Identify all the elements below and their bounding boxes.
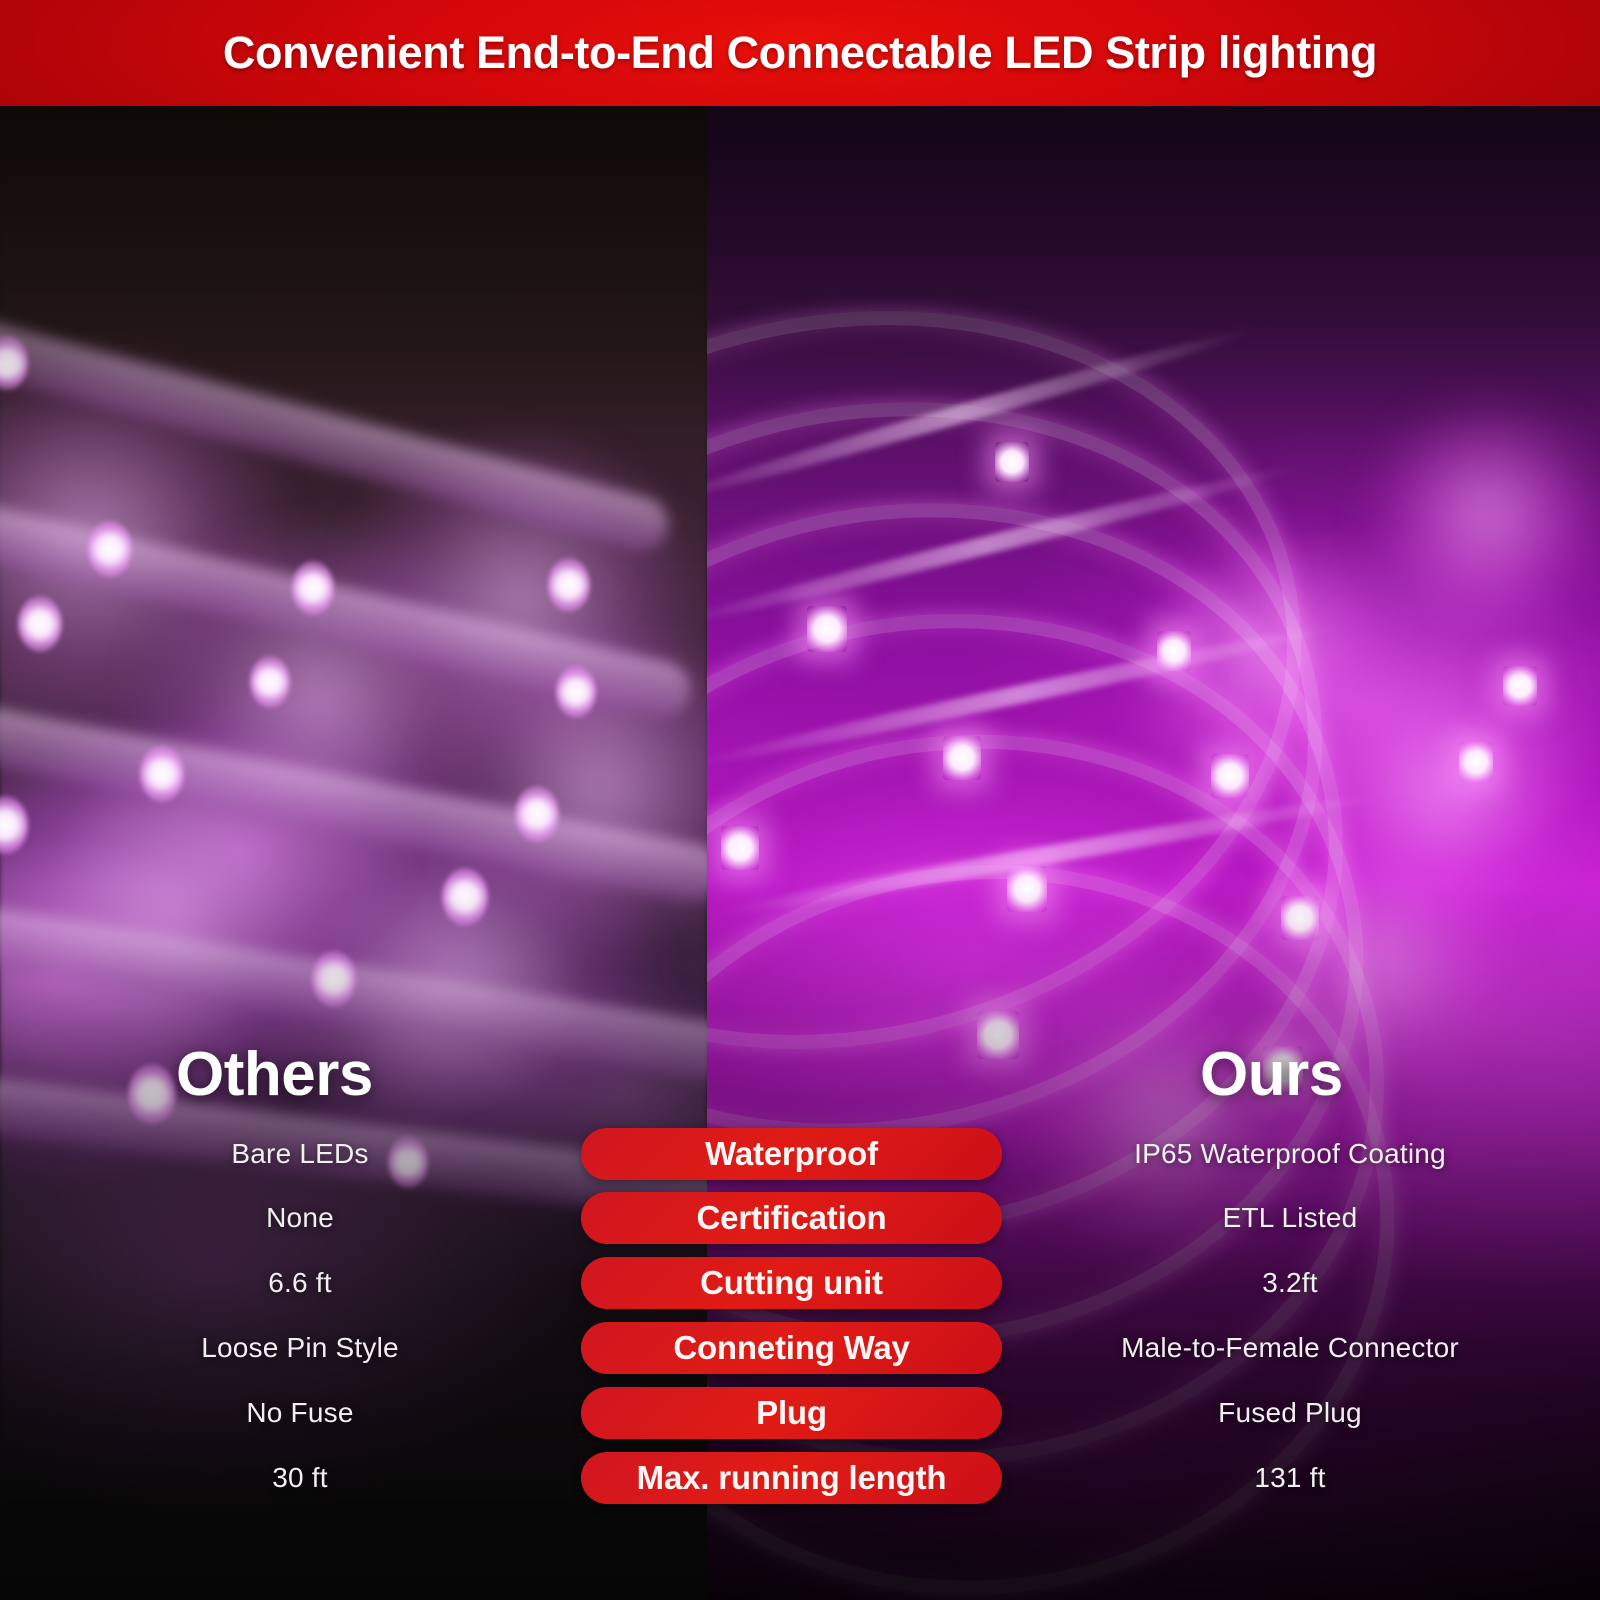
feature-pill-connecting-way[interactable]: Conneting Way xyxy=(581,1322,1002,1374)
feature-pill-max-running-length[interactable]: Max. running length xyxy=(581,1452,1002,1504)
ours-value: IP65 Waterproof Coating xyxy=(1040,1128,1540,1180)
banner-title: Convenient End-to-End Connectable LED St… xyxy=(223,27,1377,79)
table-row: Loose Pin Style Conneting Way Male-to-Fe… xyxy=(0,1322,1600,1379)
header-banner: Convenient End-to-End Connectable LED St… xyxy=(0,0,1600,106)
others-value: None xyxy=(60,1192,540,1244)
feature-pill-waterproof[interactable]: Waterproof xyxy=(581,1128,1002,1180)
column-heading-others: Others xyxy=(176,1039,373,1110)
product-comparison-infographic: Convenient End-to-End Connectable LED St… xyxy=(0,0,1600,1600)
table-row: 6.6 ft Cutting unit 3.2ft xyxy=(0,1257,1600,1314)
table-row: No Fuse Plug Fused Plug xyxy=(0,1387,1600,1444)
feature-label: Conneting Way xyxy=(673,1329,909,1367)
feature-label: Waterproof xyxy=(705,1135,878,1173)
column-heading-ours: Ours xyxy=(1200,1039,1343,1110)
table-row: None Certification ETL Listed xyxy=(0,1192,1600,1249)
ours-value: ETL Listed xyxy=(1040,1192,1540,1244)
ours-value: 131 ft xyxy=(1040,1452,1540,1504)
others-value: No Fuse xyxy=(60,1387,540,1439)
feature-label: Plug xyxy=(756,1394,827,1432)
others-value: Bare LEDs xyxy=(60,1128,540,1180)
comparison-table: Others Ours Bare LEDs Waterproof IP65 Wa… xyxy=(0,0,1600,1600)
feature-label: Cutting unit xyxy=(700,1264,883,1302)
table-row: 30 ft Max. running length 131 ft xyxy=(0,1452,1600,1509)
feature-label: Max. running length xyxy=(637,1459,947,1497)
others-value: 30 ft xyxy=(60,1452,540,1504)
feature-pill-cutting-unit[interactable]: Cutting unit xyxy=(581,1257,1002,1309)
others-value: 6.6 ft xyxy=(60,1257,540,1309)
feature-pill-certification[interactable]: Certification xyxy=(581,1192,1002,1244)
ours-value: Male-to-Female Connector xyxy=(1040,1322,1540,1374)
feature-pill-plug[interactable]: Plug xyxy=(581,1387,1002,1439)
feature-label: Certification xyxy=(697,1199,887,1237)
others-value: Loose Pin Style xyxy=(60,1322,540,1374)
ours-value: Fused Plug xyxy=(1040,1387,1540,1439)
table-row: Bare LEDs Waterproof IP65 Waterproof Coa… xyxy=(0,1128,1600,1185)
ours-value: 3.2ft xyxy=(1040,1257,1540,1309)
